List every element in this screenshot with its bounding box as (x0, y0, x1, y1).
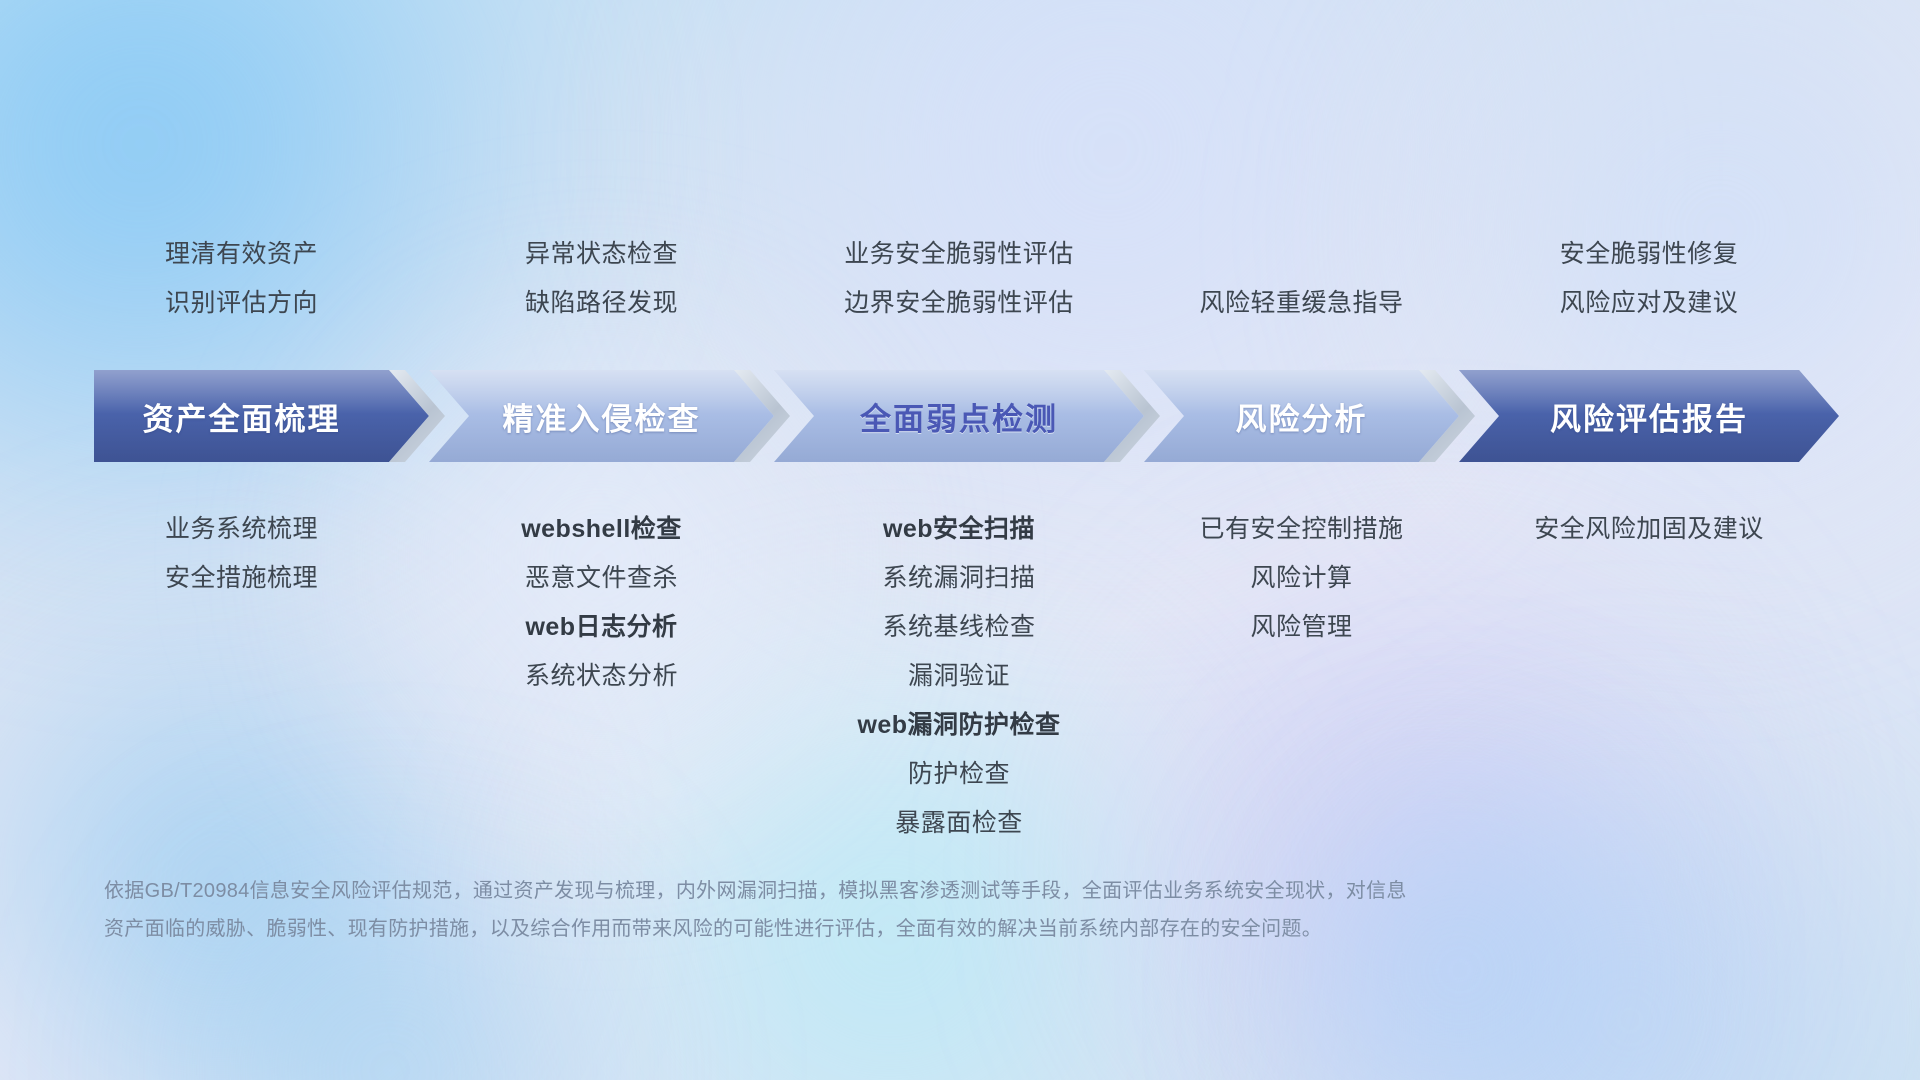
process-diagram: 理清有效资产识别评估方向异常状态检查缺陷路径发现业务安全脆弱性评估边界安全脆弱性… (0, 0, 1920, 1080)
top-label: 识别评估方向 (42, 279, 442, 328)
top-label: 业务安全脆弱性评估 (759, 230, 1159, 279)
detail-item: web安全扫描 (759, 505, 1159, 554)
top-label: 边界安全脆弱性评估 (759, 279, 1159, 328)
process-step-3[interactable]: 全面弱点检测 (774, 370, 1144, 462)
detail-item: 风险计算 (1102, 554, 1502, 603)
detail-item: webshell检查 (402, 505, 802, 554)
footer-line-2: 资产面临的威胁、脆弱性、现有防护措施，以及综合作用而带来风险的可能性进行评估，全… (104, 910, 1664, 948)
process-step-title: 风险评估报告 (1499, 394, 1799, 439)
detail-item: web漏洞防护检查 (759, 701, 1159, 750)
process-step-title: 资产全面梳理 (94, 394, 389, 439)
footer-line-1: 依据GB/T20984信息安全风险评估规范，通过资产发现与梳理，内外网漏洞扫描，… (104, 872, 1664, 910)
top-label: 风险应对及建议 (1449, 279, 1849, 328)
detail-item: 系统状态分析 (402, 652, 802, 701)
detail-list-5: 安全风险加固及建议 (1449, 505, 1849, 554)
top-label: 理清有效资产 (42, 230, 442, 279)
process-step-title: 风险分析 (1184, 394, 1419, 439)
process-step-1[interactable]: 资产全面梳理 (94, 370, 429, 462)
process-step-title: 全面弱点检测 (814, 394, 1104, 439)
detail-list-1: 业务系统梳理安全措施梳理 (42, 505, 442, 603)
process-step-2[interactable]: 精准入侵检查 (429, 370, 774, 462)
process-step-title: 精准入侵检查 (469, 394, 734, 439)
detail-item: 防护检查 (759, 750, 1159, 799)
detail-item: 业务系统梳理 (42, 505, 442, 554)
detail-item: 安全措施梳理 (42, 554, 442, 603)
detail-item: 已有安全控制措施 (1102, 505, 1502, 554)
detail-item: 系统基线检查 (759, 603, 1159, 652)
detail-item: 恶意文件查杀 (402, 554, 802, 603)
process-chevron-banner: 资产全面梳理精准入侵检查全面弱点检测风险分析风险评估报告 (94, 370, 1839, 462)
detail-item: web日志分析 (402, 603, 802, 652)
detail-list-4: 已有安全控制措施风险计算风险管理 (1102, 505, 1502, 652)
top-label: 风险轻重缓急指导 (1102, 279, 1502, 328)
footer-description: 依据GB/T20984信息安全风险评估规范，通过资产发现与梳理，内外网漏洞扫描，… (104, 872, 1664, 948)
detail-item: 漏洞验证 (759, 652, 1159, 701)
detail-item: 风险管理 (1102, 603, 1502, 652)
top-label: 缺陷路径发现 (402, 279, 802, 328)
top-label: 安全脆弱性修复 (1449, 230, 1849, 279)
top-label: 异常状态检查 (402, 230, 802, 279)
detail-list-3: web安全扫描系统漏洞扫描系统基线检查漏洞验证web漏洞防护检查防护检查暴露面检… (759, 505, 1159, 848)
top-label-row: 理清有效资产识别评估方向异常状态检查缺陷路径发现业务安全脆弱性评估边界安全脆弱性… (0, 228, 1920, 328)
detail-item: 安全风险加固及建议 (1449, 505, 1849, 554)
process-step-5[interactable]: 风险评估报告 (1459, 370, 1839, 462)
process-step-4[interactable]: 风险分析 (1144, 370, 1459, 462)
detail-list-2: webshell检查恶意文件查杀web日志分析系统状态分析 (402, 505, 802, 701)
detail-item: 系统漏洞扫描 (759, 554, 1159, 603)
detail-item: 暴露面检查 (759, 799, 1159, 848)
